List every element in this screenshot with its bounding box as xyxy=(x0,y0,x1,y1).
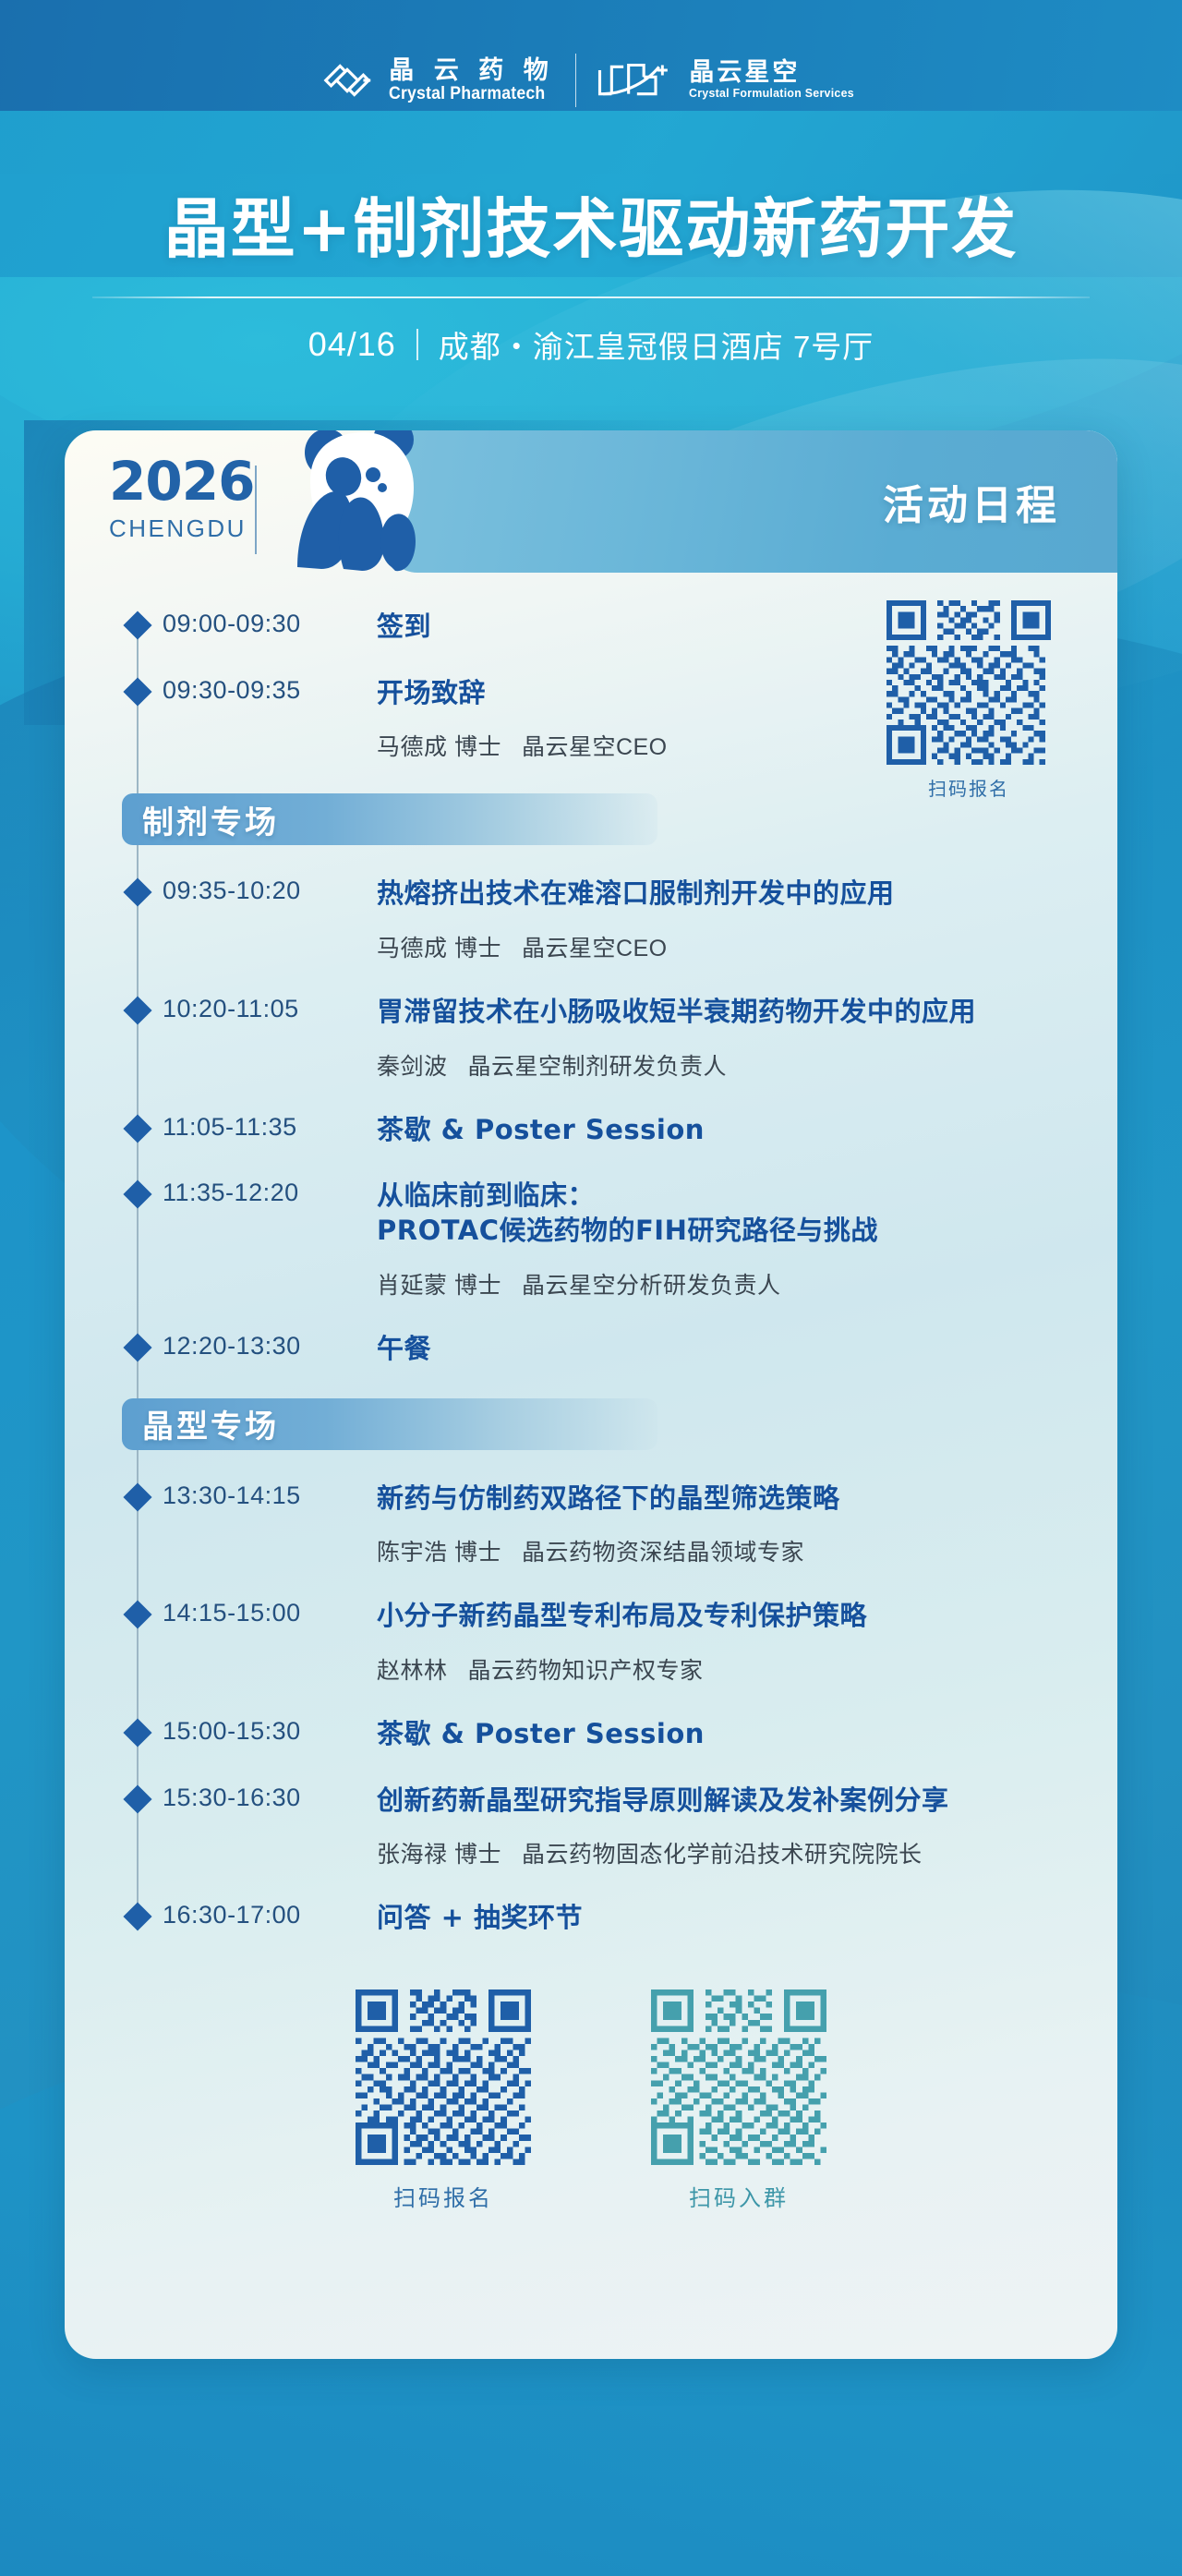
schedule-topic-line: 茶歇 & Poster Session xyxy=(377,1113,1058,1148)
schedule-time: 14:15-15:00 xyxy=(163,1599,377,1627)
brand-logo-bar: 晶 云 药 物 Crystal Pharmatech 晶云星空 Crystal … xyxy=(0,52,1182,109)
schedule-topic: 问答 + 抽奖环节 xyxy=(377,1901,1058,1936)
poster-title-block: 晶型+制剂技术驱动新药开发 04/16 成都・渝江皇冠假日酒店 7号厅 xyxy=(0,177,1182,367)
agenda-body: 扫码报名 09:00-09:30签到09:30-09:35开场致辞马德成 博士晶… xyxy=(65,610,1117,2212)
brand-left-wordmark: 晶 云 药 物 Crystal Pharmatech xyxy=(389,57,557,103)
section-header-label: 晶型专场 xyxy=(142,1401,279,1446)
year-divider xyxy=(255,466,257,554)
brand-crystal-pharmatech: 晶 云 药 物 Crystal Pharmatech xyxy=(319,52,557,109)
schedule-speaker: 马德成 博士晶云星空CEO xyxy=(377,930,1058,963)
schedule-topic: 创新药新晶型研究指导原则解读及发补案例分享 xyxy=(377,1784,1058,1819)
schedule-topic-line: 开场致辞 xyxy=(377,676,1058,711)
speaker-org: 晶云星空CEO xyxy=(522,930,668,963)
brand-divider xyxy=(575,54,576,107)
schedule-time: 16:30-17:00 xyxy=(163,1901,377,1929)
event-date: 04/16 xyxy=(308,325,396,364)
agenda-card: 2026 CHENGDU 活动日程 xyxy=(65,430,1117,2359)
schedule-time: 09:30-09:35 xyxy=(163,676,377,705)
schedule-topic-line: 新药与仿制药双路径下的晶型筛选策略 xyxy=(377,1482,1058,1517)
schedule-speaker: 秦剑波晶云星空制剂研发负责人 xyxy=(377,1048,1058,1082)
timeline-diamond-icon xyxy=(123,1114,151,1143)
schedule-row: 15:00-15:30茶歇 & Poster Session xyxy=(65,1717,1117,1752)
schedule-time: 12:20-13:30 xyxy=(163,1332,377,1361)
footer-qr-register-label: 扫码报名 xyxy=(356,2180,531,2212)
event-venue: 成都・渝江皇冠假日酒店 7号厅 xyxy=(439,322,874,367)
schedule-entry: 开场致辞马德成 博士晶云星空CEO xyxy=(377,676,1058,763)
schedule-entry: 签到 xyxy=(377,610,1058,645)
schedule-row: 09:35-10:20热熔挤出技术在难溶口服制剂开发中的应用马德成 博士晶云星空… xyxy=(65,877,1117,963)
schedule-row: 09:00-09:30签到 xyxy=(65,610,1117,645)
timeline-diamond-icon xyxy=(123,1333,151,1361)
schedule-topic: 茶歇 & Poster Session xyxy=(377,1113,1058,1148)
event-meta: 04/16 成都・渝江皇冠假日酒店 7号厅 xyxy=(0,322,1182,367)
schedule-topic: 签到 xyxy=(377,610,1058,645)
schedule-entry: 创新药新晶型研究指导原则解读及发补案例分享张海禄 博士晶云药物固态化学前沿技术研… xyxy=(377,1784,1058,1870)
timeline-diamond-icon xyxy=(123,1903,151,1931)
footer-qr-register[interactable]: 扫码报名 xyxy=(356,1989,531,2212)
timeline-diamond-icon xyxy=(123,1601,151,1629)
schedule-list: 09:00-09:30签到09:30-09:35开场致辞马德成 博士晶云星空CE… xyxy=(65,610,1117,1936)
brand-right-en: Crystal Formulation Services xyxy=(689,86,854,102)
section-header-2: 制剂专场 xyxy=(122,793,657,845)
speaker-org: 晶云药物知识产权专家 xyxy=(468,1652,704,1686)
schedule-time: 09:00-09:30 xyxy=(163,610,377,638)
event-year: 2026 xyxy=(109,456,284,507)
crystal-diamond-logo-icon xyxy=(319,52,376,109)
speaker-name: 马德成 博士 xyxy=(377,930,501,963)
schedule-row: 09:30-09:35开场致辞马德成 博士晶云星空CEO xyxy=(65,676,1117,763)
agenda-title: 活动日程 xyxy=(883,472,1060,531)
schedule-topic: 胃滞留技术在小肠吸收短半衰期药物开发中的应用 xyxy=(377,995,1058,1030)
crystal-formulation-logo-icon xyxy=(595,56,676,104)
schedule-row: 11:35-12:20从临床前到临床：PROTAC候选药物的FIH研究路径与挑战… xyxy=(65,1179,1117,1300)
schedule-speaker: 马德成 博士晶云星空CEO xyxy=(377,729,1058,762)
schedule-topic-line: 问答 + 抽奖环节 xyxy=(377,1901,1058,1936)
panda-mascot-icon xyxy=(275,430,441,576)
year-city-block: 2026 CHENGDU xyxy=(109,456,284,543)
schedule-topic-line: 胃滞留技术在小肠吸收短半衰期药物开发中的应用 xyxy=(377,995,1058,1030)
speaker-name: 肖延蒙 博士 xyxy=(377,1267,501,1300)
schedule-entry: 小分子新药晶型专利布局及专利保护策略赵林林晶云药物知识产权专家 xyxy=(377,1599,1058,1686)
brand-crystal-formulation: 晶云星空 Crystal Formulation Services xyxy=(595,56,862,104)
speaker-org: 晶云星空分析研发负责人 xyxy=(522,1267,781,1300)
schedule-entry: 胃滞留技术在小肠吸收短半衰期药物开发中的应用秦剑波晶云星空制剂研发负责人 xyxy=(377,995,1058,1082)
schedule-topic-line: 热熔挤出技术在难溶口服制剂开发中的应用 xyxy=(377,877,1058,912)
speaker-name: 陈宇浩 博士 xyxy=(377,1534,501,1567)
schedule-row: 10:20-11:05胃滞留技术在小肠吸收短半衰期药物开发中的应用秦剑波晶云星空… xyxy=(65,995,1117,1082)
timeline-diamond-icon xyxy=(123,1180,151,1209)
page-title: 晶型+制剂技术驱动新药开发 xyxy=(0,177,1182,271)
brand-right-cn: 晶云星空 xyxy=(689,59,862,86)
speaker-org: 晶云星空制剂研发负责人 xyxy=(468,1048,728,1082)
schedule-topic: 小分子新药晶型专利布局及专利保护策略 xyxy=(377,1599,1058,1634)
schedule-row: 15:30-16:30创新药新晶型研究指导原则解读及发补案例分享张海禄 博士晶云… xyxy=(65,1784,1117,1870)
schedule-topic: 热熔挤出技术在难溶口服制剂开发中的应用 xyxy=(377,877,1058,912)
timeline-diamond-icon xyxy=(123,997,151,1025)
schedule-row: 11:05-11:35茶歇 & Poster Session xyxy=(65,1113,1117,1148)
footer-qr-group: 扫码报名 xyxy=(65,1989,1117,2212)
schedule-topic: 开场致辞 xyxy=(377,676,1058,711)
schedule-entry: 茶歇 & Poster Session xyxy=(377,1717,1058,1752)
schedule-entry: 热熔挤出技术在难溶口服制剂开发中的应用马德成 博士晶云星空CEO xyxy=(377,877,1058,963)
timeline-diamond-icon xyxy=(123,611,151,639)
schedule-entry: 从临床前到临床：PROTAC候选药物的FIH研究路径与挑战肖延蒙 博士晶云星空分… xyxy=(377,1179,1058,1300)
speaker-org: 晶云星空CEO xyxy=(522,729,668,762)
schedule-topic-line: 小分子新药晶型专利布局及专利保护策略 xyxy=(377,1599,1058,1634)
footer-qr-group-chat[interactable]: 扫码入群 xyxy=(651,1989,826,2212)
brand-left-en: Crystal Pharmatech xyxy=(389,84,545,103)
schedule-entry: 午餐 xyxy=(377,1332,1058,1367)
timeline-diamond-icon xyxy=(123,878,151,907)
schedule-speaker: 赵林林晶云药物知识产权专家 xyxy=(377,1652,1058,1686)
schedule-topic-line: 创新药新晶型研究指导原则解读及发补案例分享 xyxy=(377,1784,1058,1819)
schedule-time: 09:35-10:20 xyxy=(163,877,377,905)
schedule-time: 15:00-15:30 xyxy=(163,1717,377,1746)
schedule-topic: 新药与仿制药双路径下的晶型筛选策略 xyxy=(377,1482,1058,1517)
speaker-org: 晶云药物资深结晶领域专家 xyxy=(522,1534,804,1567)
section-header-label: 制剂专场 xyxy=(142,797,279,842)
speaker-org: 晶云药物固态化学前沿技术研究院院长 xyxy=(522,1836,923,1869)
timeline-diamond-icon xyxy=(123,1718,151,1747)
schedule-topic-line: 茶歇 & Poster Session xyxy=(377,1717,1058,1752)
schedule-topic-line: 签到 xyxy=(377,610,1058,645)
timeline-diamond-icon xyxy=(123,1482,151,1511)
schedule-time: 15:30-16:30 xyxy=(163,1784,377,1812)
schedule-topic-line: 午餐 xyxy=(377,1332,1058,1367)
schedule-topic: 茶歇 & Poster Session xyxy=(377,1717,1058,1752)
schedule-topic: 午餐 xyxy=(377,1332,1058,1367)
schedule-time: 10:20-11:05 xyxy=(163,995,377,1023)
speaker-name: 马德成 博士 xyxy=(377,729,501,762)
schedule-time: 11:35-12:20 xyxy=(163,1179,377,1207)
schedule-topic-line: 从临床前到临床： xyxy=(377,1179,1058,1214)
speaker-name: 赵林林 xyxy=(377,1652,448,1686)
title-divider xyxy=(92,296,1090,298)
event-city: CHENGDU xyxy=(109,514,284,543)
speaker-name: 秦剑波 xyxy=(377,1048,448,1082)
schedule-topic-line: PROTAC候选药物的FIH研究路径与挑战 xyxy=(377,1214,1058,1249)
section-header-8: 晶型专场 xyxy=(122,1398,657,1450)
schedule-row: 16:30-17:00问答 + 抽奖环节 xyxy=(65,1901,1117,1936)
footer-qr-group-label: 扫码入群 xyxy=(651,2180,826,2212)
schedule-entry: 问答 + 抽奖环节 xyxy=(377,1901,1058,1936)
brand-left-cn: 晶 云 药 物 xyxy=(389,57,557,84)
schedule-speaker: 陈宇浩 博士晶云药物资深结晶领域专家 xyxy=(377,1534,1058,1567)
schedule-time: 13:30-14:15 xyxy=(163,1482,377,1510)
schedule-speaker: 肖延蒙 博士晶云星空分析研发负责人 xyxy=(377,1267,1058,1300)
schedule-time: 11:05-11:35 xyxy=(163,1113,377,1142)
brand-right-wordmark: 晶云星空 Crystal Formulation Services xyxy=(689,59,862,102)
schedule-row: 12:20-13:30午餐 xyxy=(65,1332,1117,1367)
corner-qr-label: 扫码报名 xyxy=(886,774,1051,801)
qr-code-icon[interactable] xyxy=(356,1989,531,2165)
schedule-row: 13:30-14:15新药与仿制药双路径下的晶型筛选策略陈宇浩 博士晶云药物资深… xyxy=(65,1482,1117,1568)
schedule-speaker: 张海禄 博士晶云药物固态化学前沿技术研究院院长 xyxy=(377,1836,1058,1869)
schedule-topic: 从临床前到临床：PROTAC候选药物的FIH研究路径与挑战 xyxy=(377,1179,1058,1248)
timeline-diamond-icon xyxy=(123,677,151,706)
schedule-entry: 新药与仿制药双路径下的晶型筛选策略陈宇浩 博士晶云药物资深结晶领域专家 xyxy=(377,1482,1058,1568)
schedule-entry: 茶歇 & Poster Session xyxy=(377,1113,1058,1148)
timeline-diamond-icon xyxy=(123,1784,151,1813)
qr-code-icon[interactable] xyxy=(651,1989,826,2165)
speaker-name: 张海禄 博士 xyxy=(377,1836,501,1869)
agenda-card-header: 2026 CHENGDU 活动日程 xyxy=(65,430,1117,573)
schedule-row: 14:15-15:00小分子新药晶型专利布局及专利保护策略赵林林晶云药物知识产权… xyxy=(65,1599,1117,1686)
meta-separator xyxy=(416,329,418,360)
